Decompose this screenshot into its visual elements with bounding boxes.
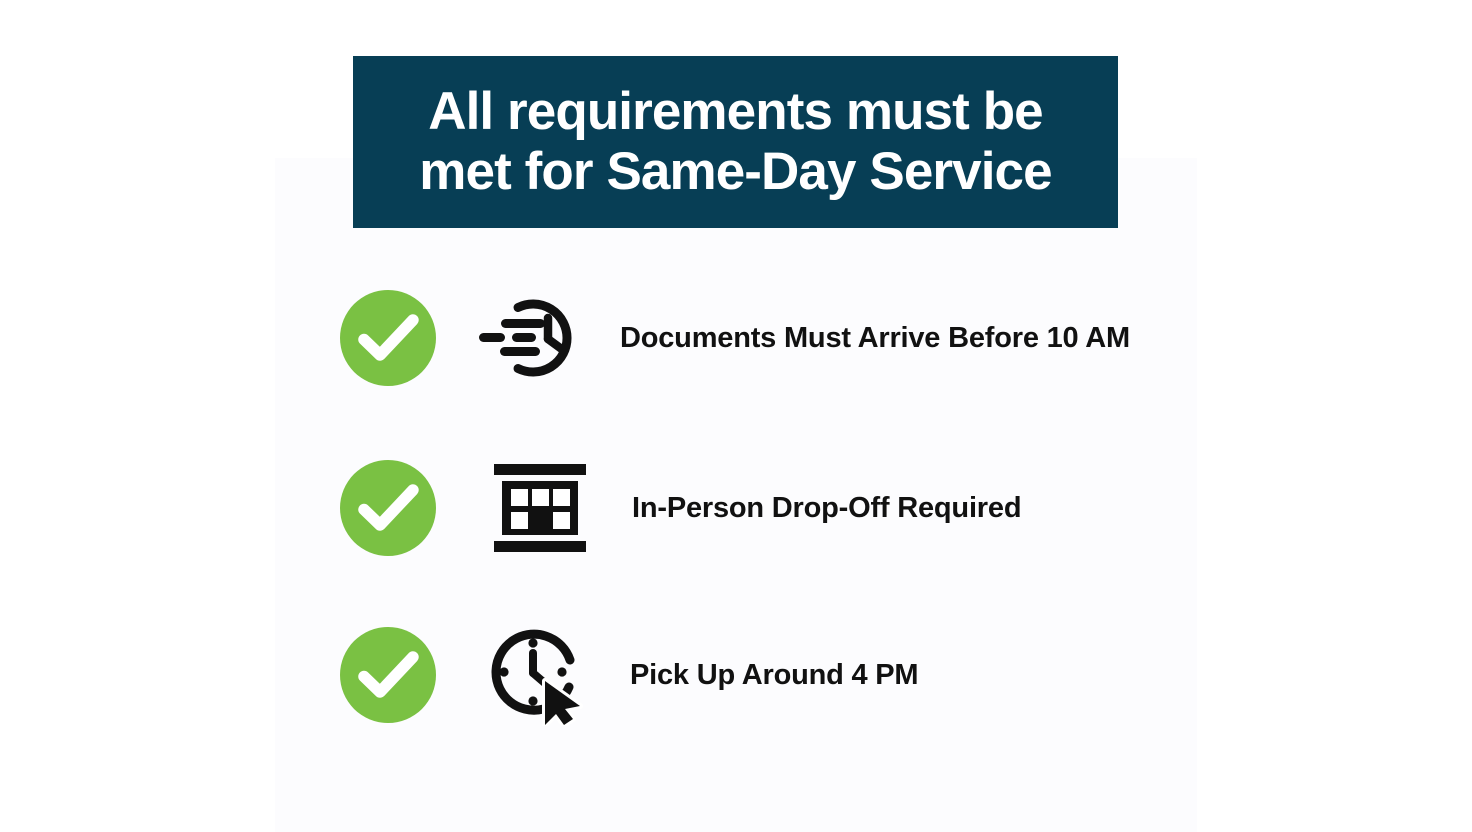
infographic-canvas: All requirements must be met for Same-Da… — [0, 0, 1472, 832]
requirement-row: Documents Must Arrive Before 10 AM — [340, 283, 1130, 393]
requirement-label: In-Person Drop-Off Required — [632, 491, 1021, 525]
building-storefront-icon — [488, 456, 592, 560]
check-circle-icon — [340, 290, 436, 386]
requirement-row: In-Person Drop-Off Required — [340, 453, 1021, 563]
fast-clock-icon — [472, 286, 592, 390]
requirements-list: Documents Must Arrive Before 10 AM — [0, 0, 1472, 832]
check-circle-icon — [340, 460, 436, 556]
requirement-label: Pick Up Around 4 PM — [630, 658, 918, 692]
requirement-row: Pick Up Around 4 PM — [340, 620, 918, 730]
requirement-label: Documents Must Arrive Before 10 AM — [620, 321, 1130, 355]
check-circle-icon — [340, 627, 436, 723]
clock-cursor-icon — [484, 623, 596, 727]
